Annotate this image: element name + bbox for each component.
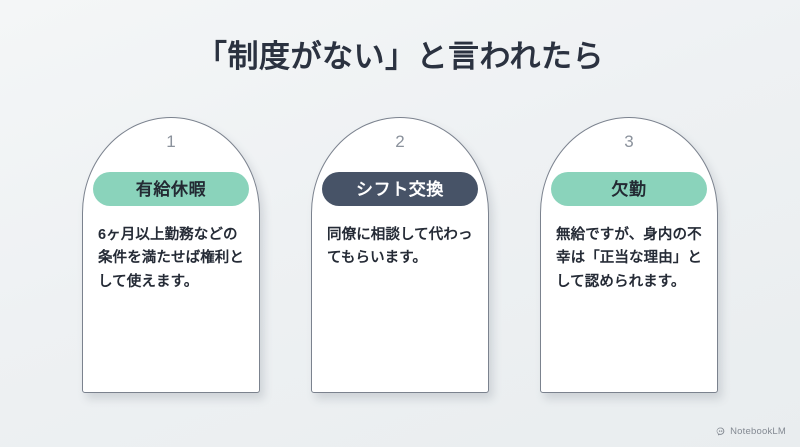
- watermark-label: NotebookLM: [730, 427, 786, 437]
- card-body-1: 6ヶ月以上勤務などの条件を満たせば権利として使えます。: [98, 224, 244, 294]
- card-number-3: 3: [624, 133, 633, 150]
- arch-card-1: 1 有給休暇 6ヶ月以上勤務などの条件を満たせば権利として使えます。: [82, 117, 260, 393]
- card-badge-1: 有給休暇: [93, 172, 249, 206]
- notebooklm-logo-icon: [715, 426, 726, 437]
- card-badge-3: 欠勤: [551, 172, 707, 206]
- card-number-2: 2: [395, 133, 404, 150]
- card-number-1: 1: [166, 133, 175, 150]
- card-badge-2: シフト交換: [322, 172, 478, 206]
- arch-card-2: 2 シフト交換 同僚に相談して代わってもらいます。: [311, 117, 489, 393]
- card-body-3: 無給ですが、身内の不幸は「正当な理由」として認められます。: [556, 224, 702, 294]
- page-title: 「制度がない」と言われたら: [0, 38, 800, 75]
- card-body-2: 同僚に相談して代わってもらいます。: [327, 224, 473, 271]
- watermark: NotebookLM: [715, 426, 786, 437]
- slide-canvas: 「制度がない」と言われたら 1 有給休暇 6ヶ月以上勤務などの条件を満たせば権利…: [0, 0, 800, 447]
- card-list: 1 有給休暇 6ヶ月以上勤務などの条件を満たせば権利として使えます。 2 シフト…: [82, 117, 718, 393]
- arch-card-3: 3 欠勤 無給ですが、身内の不幸は「正当な理由」として認められます。: [540, 117, 718, 393]
